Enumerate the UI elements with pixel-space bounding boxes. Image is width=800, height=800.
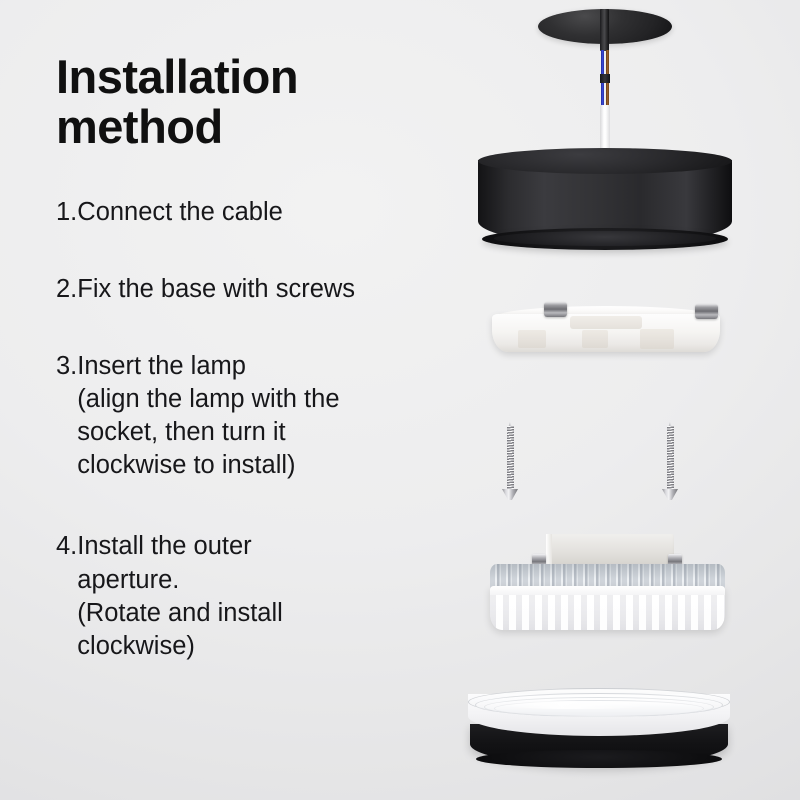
aperture-highlight — [502, 701, 652, 709]
step-item-1: 1. Connect the cable — [56, 196, 456, 229]
step-item-2: 2. Fix the base with screws — [56, 273, 456, 306]
screw-shaft — [667, 426, 674, 492]
cable-sheath — [600, 9, 609, 51]
base-plate-post-right — [695, 304, 718, 319]
base-plate-notch-center — [582, 330, 608, 348]
screw-shaft — [507, 426, 514, 492]
mounting-base-plate — [492, 300, 720, 358]
step-item-4: 4. Install the outer aperture. (Rotate a… — [56, 530, 456, 663]
installation-instruction-page: Installation method 1. Connect the cable… — [0, 0, 800, 800]
lamp-housing-top — [478, 148, 732, 174]
step-number-4: 4. — [56, 530, 77, 563]
base-plate-notch-right — [640, 329, 674, 349]
base-plate-notch-left — [518, 330, 546, 348]
mounting-screw-left — [502, 422, 518, 500]
led-backplate-edge — [546, 534, 552, 568]
step-item-3: 3. Insert the lamp (align the lamp with … — [56, 350, 456, 483]
step-number-3: 3. — [56, 350, 77, 383]
cable-conduit — [600, 105, 610, 153]
wire-band — [600, 74, 610, 83]
led-diffuser-top-band — [490, 586, 725, 595]
step-text-3: Insert the lamp (align the lamp with the… — [77, 350, 456, 483]
screw-head — [662, 489, 678, 500]
step-text-4: Install the outer aperture. (Rotate and … — [77, 530, 456, 663]
step-number-1: 1. — [56, 196, 77, 229]
step-text-2: Fix the base with screws — [77, 273, 456, 306]
product-exploded-view — [440, 0, 800, 800]
base-plate-post-left — [544, 302, 567, 317]
led-module — [490, 534, 725, 630]
lamp-housing — [478, 148, 732, 253]
instruction-text-column: Installation method 1. Connect the cable… — [56, 52, 456, 663]
step-text-1: Connect the cable — [77, 196, 456, 229]
base-plate-center-shade — [570, 316, 642, 329]
step-number-2: 2. — [56, 273, 77, 306]
aperture-black-bottom — [476, 750, 722, 768]
mounting-screw-right — [662, 422, 678, 500]
lamp-housing-inner-lip — [494, 231, 716, 246]
page-title: Installation method — [56, 52, 456, 152]
led-backplate — [546, 534, 674, 568]
outer-aperture-ring — [468, 688, 730, 770]
screw-head — [502, 489, 518, 500]
